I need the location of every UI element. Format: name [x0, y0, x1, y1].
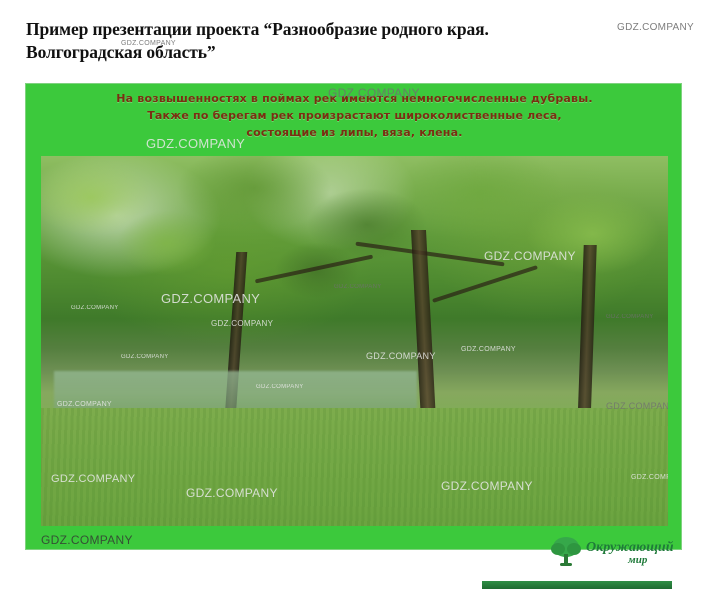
slide-heading-line-3: состоящие из липы, вяза, клена. [26, 124, 682, 141]
slide-heading-line-2: Также по берегам рек произрастают широко… [26, 107, 682, 124]
page-title-line-1: Пример презентации проекта “Разнообразие… [26, 18, 686, 41]
tree-icon [551, 535, 581, 572]
page-title: Пример презентации проекта “Разнообразие… [26, 18, 686, 64]
canopy-foliage [41, 156, 668, 385]
slide-heading-line-1: На возвышенностях в поймах рек имеются н… [26, 90, 682, 107]
okruzhayushchiy-mir-logo: Окружающий мир [551, 532, 691, 574]
logo-line-1: Окружающий [586, 541, 674, 555]
logo-line-2: мир [586, 555, 674, 566]
logo-text: Окружающий мир [586, 541, 674, 566]
oak-grove-photo: GDZ.COMPANYGDZ.COMPANYGDZ.COMPANYGDZ.COM… [41, 156, 668, 526]
watermark-slide-footer: GDZ.COMPANY [41, 533, 133, 547]
presentation-slide: На возвышенностях в поймах рек имеются н… [25, 83, 682, 550]
bottom-progress-bar [482, 581, 672, 589]
slide-heading: На возвышенностях в поймах рек имеются н… [26, 90, 682, 141]
meadow-grass [41, 408, 668, 526]
page-title-line-2: Волгоградская область” [26, 41, 686, 64]
